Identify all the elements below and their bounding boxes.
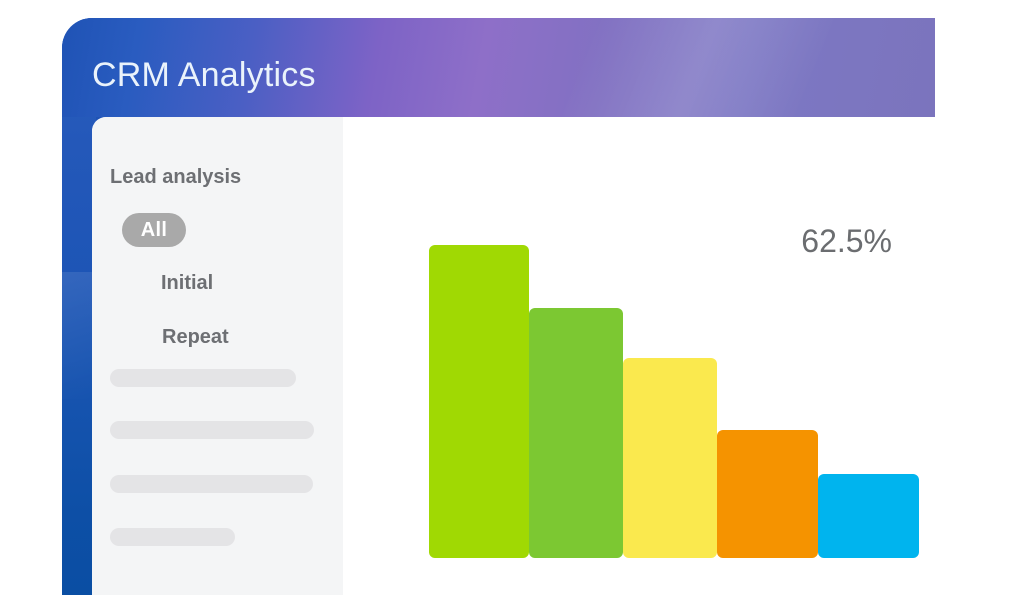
sidebar-item-repeat[interactable]: Repeat [162, 326, 229, 349]
bar-1[interactable] [429, 245, 529, 558]
bar-slot [818, 245, 919, 558]
chart-area: 62.5% [343, 117, 935, 595]
header-sheen-overlay [516, 18, 935, 117]
app-header: CRM Analytics [62, 18, 935, 117]
sidebar-item-initial[interactable]: Initial [161, 272, 213, 295]
skeleton-placeholder-row [110, 528, 235, 546]
bar-slot [717, 245, 818, 558]
bar-2[interactable] [529, 308, 623, 558]
bar-3[interactable] [623, 358, 717, 558]
bar-slot [623, 245, 717, 558]
bar-slot [529, 245, 623, 558]
sidebar-item-all-label: All [141, 219, 167, 242]
bar-4[interactable] [717, 430, 818, 558]
content-panel: Lead analysis All Initial Repeat 62.5% [92, 117, 935, 595]
bar-chart [429, 245, 872, 558]
analytics-card: CRM Analytics Lead analysis All Initial … [62, 18, 935, 595]
skeleton-placeholder-row [110, 475, 313, 493]
page-title: CRM Analytics [92, 56, 316, 95]
skeleton-placeholder-row [110, 421, 314, 439]
bar-5[interactable] [818, 474, 919, 559]
sidebar-heading: Lead analysis [110, 166, 241, 189]
bar-slot [429, 245, 529, 558]
sidebar: Lead analysis All Initial Repeat [92, 117, 343, 595]
sidebar-item-all[interactable]: All [122, 213, 186, 247]
skeleton-placeholder-row [110, 369, 296, 387]
